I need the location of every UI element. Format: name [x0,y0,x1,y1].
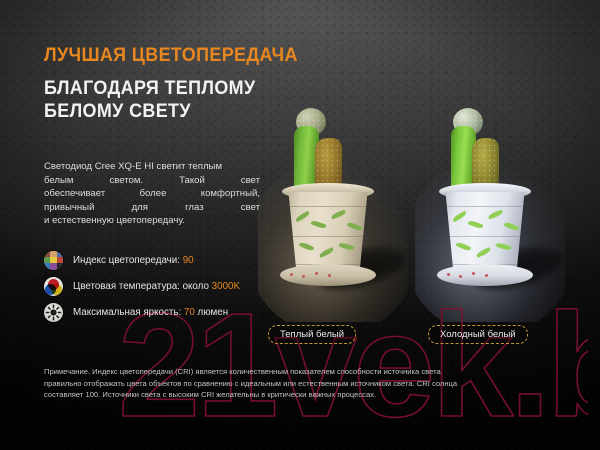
cold-pot-scene [415,96,565,322]
spec-value-brightness: 70 [184,307,195,318]
spec-label-temperature: Цветовая температура: около 3000K [73,281,240,292]
cold-white-photo [415,96,565,322]
warm-white-photo [258,96,408,322]
footnote-line-1: Примечание. Индекс цветопередачи (CRI) я… [44,366,556,378]
spec-suffix-brightness: люмен [195,307,228,318]
spec-label-brightness: Максимальная яркость: 70 люмен [73,307,228,318]
spec-label-cri: Индекс цветопередачи: 90 [73,255,194,266]
spec-label-temperature-text: Цветовая температура: около [73,281,212,292]
footnote-line-3: составляет 100. Источники света с высоки… [44,389,556,401]
cold-saucer-dots [445,272,497,278]
spec-list: Индекс цветопередачи: 90 Цветовая темпер… [44,247,240,325]
poster: 21vek.by [0,0,600,450]
footnote-block: Примечание. Индекс цветопередачи (CRI) я… [44,366,556,401]
warm-saucer-dots [288,272,340,278]
headline-line-2: БЛАГОДАРЯ ТЕПЛОМУ [44,77,298,100]
spec-row-temperature: Цветовая температура: около 3000K [44,273,240,299]
intro-line-2: белымсветом.Такойсвет [44,174,260,188]
spec-row-brightness: Максимальная яркость: 70 люмен [44,299,240,325]
intro-paragraph: Светодиод Cree XQ-E HI светит теплым бел… [44,160,260,228]
headline-line-3: БЕЛОМУ СВЕТУ [44,100,298,123]
caption-warm-white: Теплый белый [268,325,356,344]
spec-label-brightness-text: Максимальная яркость: [73,307,184,318]
spec-value-cri: 90 [183,255,194,266]
caption-cold-white: Холодный белый [428,325,528,344]
intro-line-1: Светодиод Cree XQ-E HI светит теплым [44,160,260,174]
color-checker-icon [44,251,63,270]
intro-line-3: обеспечиваетболеекомфортный, [44,187,260,201]
warm-pot-scene [258,96,408,322]
brightness-icon [44,303,63,322]
spec-value-temperature: 3000K [212,281,240,292]
intro-line-5: и естественную цветопередачу. [44,214,260,228]
footnote-line-2: правильно отображать цвета объектов по с… [44,378,556,390]
spec-label-cri-text: Индекс цветопередачи: [73,255,183,266]
spec-row-cri: Индекс цветопередачи: 90 [44,247,240,273]
intro-line-4: привычныйдляглазсвет [44,201,260,215]
rgb-circles-icon [44,277,63,296]
headline-block: ЛУЧШАЯ ЦВЕТОПЕРЕДАЧА БЛАГОДАРЯ ТЕПЛОМУ Б… [44,44,320,123]
headline-line-1: ЛУЧШАЯ ЦВЕТОПЕРЕДАЧА [44,44,298,67]
